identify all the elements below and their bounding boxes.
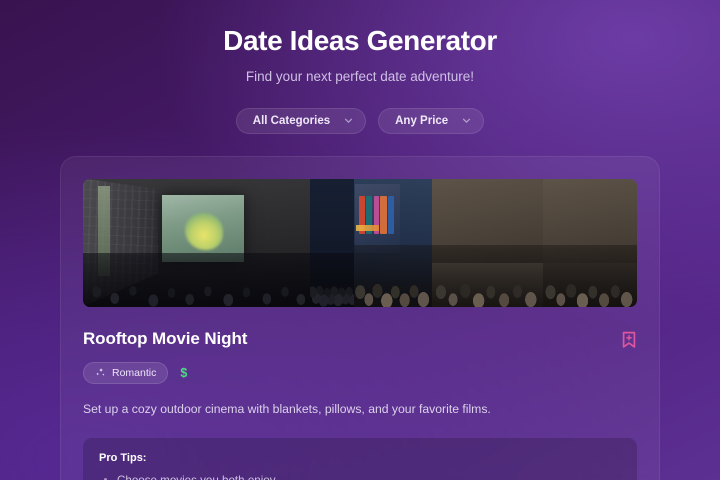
category-badge-label: Romantic <box>112 367 156 379</box>
image-segment-terrace <box>543 179 637 307</box>
image-segment-sky <box>310 179 354 307</box>
bookmark-plus-icon[interactable] <box>621 331 637 349</box>
date-idea-card[interactable]: Rooftop Movie Night Romantic <box>60 156 660 480</box>
page-header: Date Ideas Generator Find your next perf… <box>0 0 720 84</box>
audience-crowd <box>432 245 543 306</box>
page-title: Date Ideas Generator <box>0 24 720 58</box>
billboard-panel <box>388 196 394 234</box>
price-filter-dropdown[interactable]: Any Price <box>378 108 484 134</box>
category-badge: Romantic <box>83 362 168 384</box>
billboard-panel <box>380 196 386 234</box>
category-filter-dropdown[interactable]: All Categories <box>236 108 366 134</box>
card-description: Set up a cozy outdoor cinema with blanke… <box>83 400 637 418</box>
price-indicator: $ <box>180 366 188 380</box>
pro-tips-panel: Pro Tips: Choose movies you both enjoy B… <box>83 438 637 480</box>
card-title-row: Rooftop Movie Night <box>83 329 637 349</box>
chevron-down-icon <box>344 116 353 125</box>
cinema-screen <box>162 195 244 262</box>
pro-tips-list: Choose movies you both enjoy Bring comfo… <box>99 473 621 480</box>
sparkles-icon <box>95 367 106 378</box>
price-filter-label: Any Price <box>395 115 448 127</box>
audience-crowd <box>310 253 354 307</box>
marquee-sign <box>356 225 378 231</box>
page-subtitle: Find your next perfect date adventure! <box>0 69 720 84</box>
screen-image <box>185 213 223 250</box>
list-item: Choose movies you both enjoy <box>99 473 621 480</box>
filter-bar: All Categories Any Price <box>0 108 720 134</box>
audience-crowd <box>543 245 637 306</box>
card-meta-row: Romantic $ <box>83 362 637 384</box>
category-filter-label: All Categories <box>253 115 330 127</box>
chevron-down-icon <box>462 116 471 125</box>
card-container: Rooftop Movie Night Romantic <box>0 156 720 480</box>
led-billboard <box>355 184 400 253</box>
image-segment-cinema <box>83 179 310 307</box>
audience-crowd <box>83 253 310 307</box>
image-segment-plaza <box>354 179 432 307</box>
card-title: Rooftop Movie Night <box>83 329 247 349</box>
date-idea-image <box>83 179 637 307</box>
pro-tips-heading: Pro Tips: <box>99 452 621 464</box>
image-segment-wall <box>432 179 543 307</box>
audience-crowd <box>354 245 432 306</box>
